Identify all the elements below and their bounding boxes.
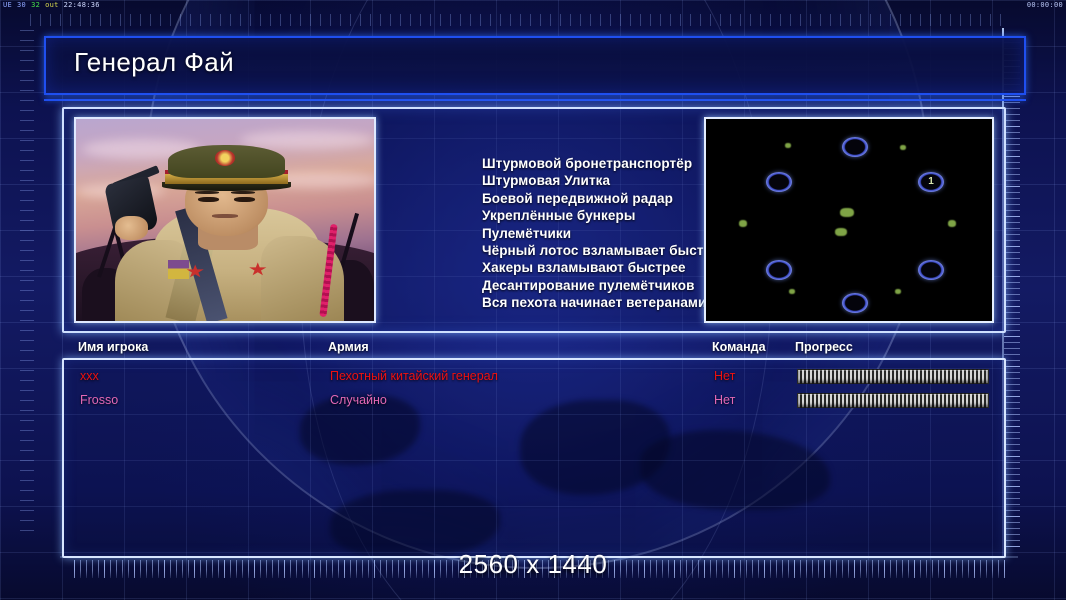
ability-item: Вся пехота начинает ветеранами [482,294,727,311]
game-lobby-screen: UE 30 32 out 22:48:36 00:00:00 Генерал Ф… [0,0,1066,600]
progress-bar [797,369,989,384]
eyebrow [231,191,255,194]
column-header-progress: Прогресс [795,340,853,354]
general-hand [115,216,148,240]
eyebrow [195,191,219,194]
player-team[interactable]: Нет [714,388,735,412]
map-units [948,220,956,227]
ability-item: Боевой передвижной радар [482,190,727,207]
map-preview[interactable]: 1 [704,117,994,323]
ability-item: Десантирование пулемётчиков [482,277,727,294]
ruler-right-major [1004,36,1020,548]
hud-clock: 22:48:36 [63,1,101,10]
map-start-position[interactable] [918,260,944,280]
player-name: xxx [80,364,99,388]
map-units [739,220,747,227]
player-list-header: Имя игрока Армия Команда Прогресс [62,340,1002,358]
eye [234,197,255,202]
ruler-left [20,30,34,540]
hud-segment: out [44,1,60,10]
map-terrain-image: 1 [734,119,964,321]
ability-item: Хакеры взламывают быстрее [482,259,727,276]
player-name: Frosso [80,388,118,412]
map-units [789,289,795,294]
map-start-position[interactable]: 1 [918,172,944,192]
column-header-army: Армия [328,340,369,354]
general-info-panel: Штурмовой бронетранспортёр Штурмовая Ули… [62,107,1006,333]
player-army[interactable]: Пехотный китайский генерал [330,364,498,388]
medal [168,260,189,278]
ruler-top [30,14,1006,26]
table-row[interactable]: Frosso Случайно Нет [64,388,1004,412]
map-start-position[interactable] [766,260,792,280]
map-units [895,289,901,294]
general-portrait [74,117,376,323]
player-list-panel: xxx Пехотный китайский генерал Нет Fross… [62,358,1006,558]
ability-item: Штурмовой бронетранспортёр [482,155,727,172]
ability-item: Штурмовая Улитка [482,172,727,189]
start-position-label: 1 [928,177,934,187]
hud-segment: 32 [30,1,41,10]
mouth [212,214,239,218]
map-units [835,228,847,236]
map-start-position[interactable] [842,137,868,157]
hud-status-left: UE 30 32 out 22:48:36 [2,1,101,10]
progress-bar [797,393,989,408]
title-bar: Генерал Фай [44,36,1026,95]
resolution-overlay: 2560 x 1440 [0,549,1066,580]
map-start-position[interactable] [842,293,868,313]
player-team[interactable]: Нет [714,364,735,388]
player-army[interactable]: Случайно [330,388,387,412]
map-units [785,143,791,148]
hud-timer: 00:00:00 [1027,1,1063,10]
hud-segment: 30 [16,1,27,10]
ability-item: Пулемётчики [482,225,727,242]
ability-list: Штурмовой бронетранспортёр Штурмовая Ули… [482,155,727,312]
map-units [840,208,854,217]
ability-item: Укреплённые бункеры [482,207,727,224]
map-start-position[interactable] [766,172,792,192]
table-row[interactable]: xxx Пехотный китайский генерал Нет [64,364,1004,388]
column-header-player-name: Имя игрока [78,340,148,354]
hud-segment: UE [2,1,13,10]
eye [198,197,219,202]
page-title: Генерал Фай [74,47,234,78]
map-units [900,145,906,150]
ability-item: Чёрный лотос взламывает быстрее [482,242,727,259]
column-header-team: Команда [712,340,766,354]
